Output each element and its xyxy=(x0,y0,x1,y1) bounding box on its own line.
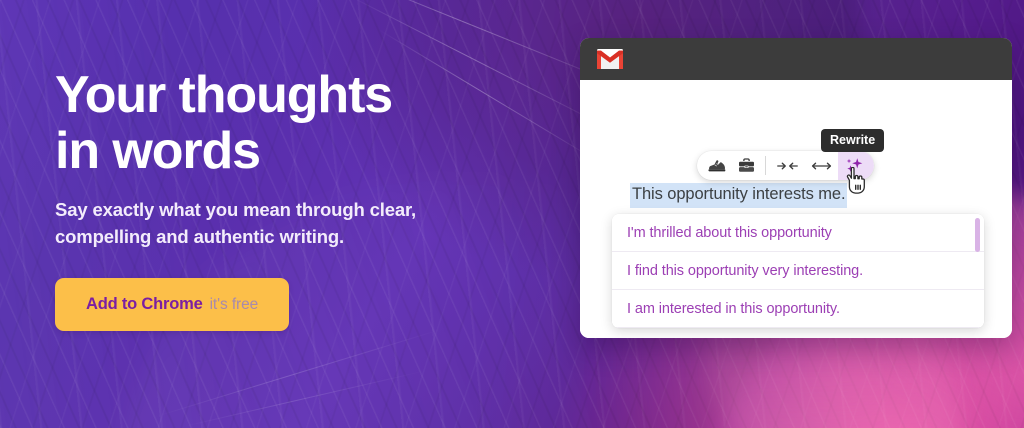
tone-toolbar xyxy=(697,151,874,180)
sneaker-icon xyxy=(708,159,726,172)
hero-banner: Your thoughtsin words Say exactly what y… xyxy=(0,0,1024,428)
hero-subtitle: Say exactly what you mean through clear,… xyxy=(55,197,455,250)
cta-main-label: Add to Chrome xyxy=(86,295,203,314)
product-demo-card: Rewrite xyxy=(580,38,1012,338)
sparkles-icon xyxy=(845,157,864,175)
tone-casual-button[interactable] xyxy=(697,151,731,180)
cta-sub-label: it's free xyxy=(210,296,259,314)
briefcase-icon xyxy=(738,158,755,173)
gmail-window-header xyxy=(580,38,1012,80)
rewrite-tooltip: Rewrite xyxy=(821,129,884,152)
rewrite-button[interactable] xyxy=(838,151,874,180)
toolbar-divider xyxy=(765,156,766,175)
list-item[interactable]: I find this opportunity very interesting… xyxy=(612,252,984,290)
tone-formal-button[interactable] xyxy=(731,151,761,180)
suggestions-scrollbar[interactable] xyxy=(975,218,980,326)
hero-copy-block: Your thoughtsin words Say exactly what y… xyxy=(55,68,525,331)
gmail-icon xyxy=(597,49,623,69)
expand-button[interactable] xyxy=(804,151,838,180)
list-item[interactable]: I'm thrilled about this opportunity xyxy=(612,214,984,252)
arrows-outward-icon xyxy=(811,160,832,172)
shorten-button[interactable] xyxy=(770,151,804,180)
headline-line-2: in words xyxy=(55,122,260,180)
add-to-chrome-button[interactable]: Add to Chrome it's free xyxy=(55,278,289,331)
vein-streak-4 xyxy=(156,328,443,417)
rewrite-suggestions-panel: I'm thrilled about this opportunity I fi… xyxy=(612,214,984,328)
arrows-inward-icon xyxy=(777,160,798,172)
gmail-compose-body: Rewrite xyxy=(580,80,1012,338)
page-title: Your thoughtsin words xyxy=(55,68,525,179)
list-item[interactable]: I am interested in this opportunity. xyxy=(612,290,984,328)
suggestions-scrollbar-thumb[interactable] xyxy=(975,218,980,252)
vein-streak-5 xyxy=(183,370,427,427)
selected-sentence[interactable]: This opportunity interests me. xyxy=(630,183,847,208)
headline-line-1: Your thoughts xyxy=(55,66,392,124)
